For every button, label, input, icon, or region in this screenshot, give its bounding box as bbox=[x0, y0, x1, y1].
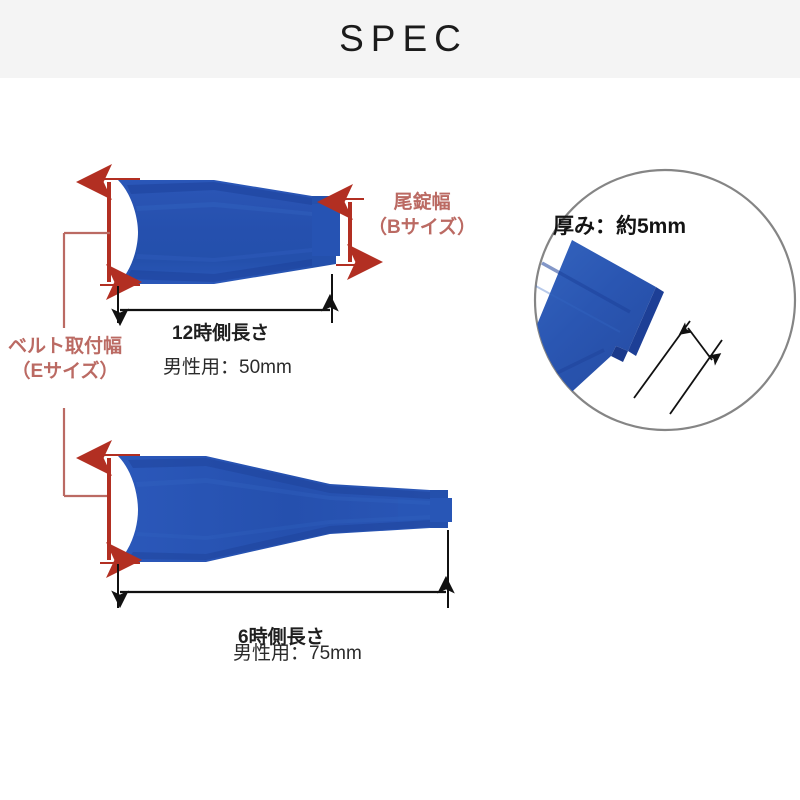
belt-width-label-line1: ベルト取付幅 bbox=[2, 334, 128, 359]
top-strap-graphic bbox=[118, 180, 340, 284]
bottom-strap-graphic bbox=[118, 456, 452, 562]
spec-page: SPEC bbox=[0, 0, 800, 800]
belt-width-label-line2: （Eサイズ） bbox=[2, 359, 128, 384]
thickness-label: 厚み：約5mm bbox=[553, 213, 686, 241]
bottom-length-value: 男性用：75mm bbox=[233, 641, 362, 666]
top-length-title: 12時側長さ bbox=[172, 321, 269, 346]
top-length-value: 男性用：50mm bbox=[163, 355, 292, 380]
buckle-width-label-line1: 尾錠幅 bbox=[368, 190, 476, 215]
thickness-detail-circle bbox=[510, 170, 795, 430]
diagram-stage bbox=[0, 78, 800, 800]
page-title: SPEC bbox=[0, 0, 800, 78]
belt-width-label: ベルト取付幅 （Eサイズ） bbox=[2, 334, 128, 384]
buckle-width-label: 尾錠幅 （Bサイズ） bbox=[368, 190, 476, 240]
buckle-width-label-line2: （Bサイズ） bbox=[368, 215, 476, 240]
top-buckle-width-arrow bbox=[336, 199, 364, 265]
